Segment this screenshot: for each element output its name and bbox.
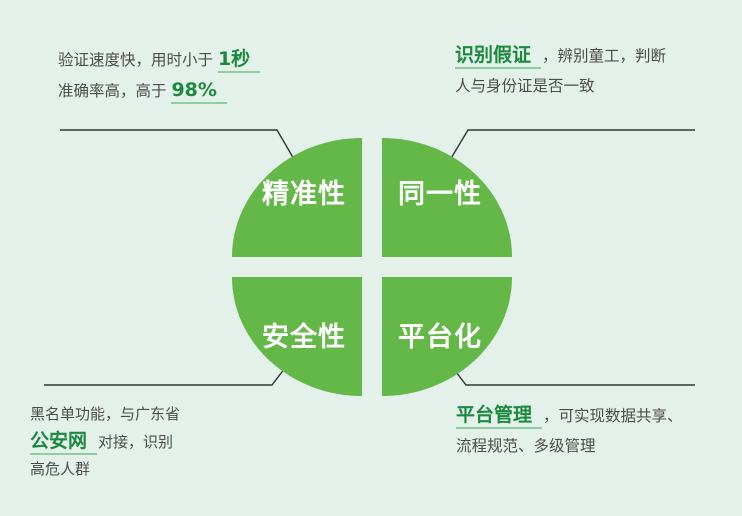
callout-accuracy-highlight-rate: 98% bbox=[171, 79, 226, 104]
callout-identity-line-1: 识别假证，辨别童工，判断 bbox=[455, 40, 666, 71]
quadrant-top-right[interactable]: 同一性 bbox=[382, 138, 512, 257]
callout-security: 黑名单功能，与广东省 公安网对接，识别 高危人群 bbox=[30, 401, 180, 483]
callout-identity-line-2: 人与身份证是否一致 bbox=[455, 71, 666, 101]
callout-security-line-2: 公安网对接，识别 bbox=[30, 428, 180, 456]
callout-accuracy: 验证速度快，用时小于 1秒 准确率高，高于 98% bbox=[58, 44, 261, 106]
callout-platform-highlight: 平台管理 bbox=[456, 404, 542, 429]
callout-accuracy-line1-prefix: 验证速度快，用时小于 bbox=[58, 51, 218, 69]
callout-accuracy-line2-prefix: 准确率高，高于 bbox=[58, 82, 171, 100]
quadrant-label-bottom-right: 平台化 bbox=[398, 324, 482, 351]
quadrant-label-top-right: 同一性 bbox=[398, 181, 482, 208]
callout-platform-line1-suffix: ，可实现数据共享、 bbox=[543, 407, 683, 425]
quadrant-label-bottom-left: 安全性 bbox=[262, 324, 346, 351]
callout-platform-line-2: 流程规范、多级管理 bbox=[456, 431, 683, 461]
callout-platform: 平台管理，可实现数据共享、 流程规范、多级管理 bbox=[456, 400, 683, 461]
callout-accuracy-line-1: 验证速度快，用时小于 1秒 bbox=[58, 44, 261, 75]
callout-accuracy-line-2: 准确率高，高于 98% bbox=[58, 75, 261, 106]
quadrant-bottom-right[interactable]: 平台化 bbox=[382, 277, 512, 396]
callout-security-line-1: 黑名单功能，与广东省 bbox=[30, 401, 180, 428]
callout-identity-line1-suffix: ，辨别童工，判断 bbox=[542, 47, 666, 65]
quadrant-label-top-left: 精准性 bbox=[262, 181, 346, 208]
quadrant-top-left[interactable]: 精准性 bbox=[232, 138, 362, 257]
callout-accuracy-highlight-duration: 1秒 bbox=[218, 48, 260, 73]
infographic-canvas: 精准性 同一性 安全性 平台化 验证速度快，用时小于 1秒 准确率高，高于 98… bbox=[0, 0, 742, 516]
quadrant-bottom-left[interactable]: 安全性 bbox=[232, 277, 362, 396]
callout-identity: 识别假证，辨别童工，判断 人与身份证是否一致 bbox=[455, 40, 666, 101]
callout-platform-line-1: 平台管理，可实现数据共享、 bbox=[456, 400, 683, 431]
callout-security-line-3: 高危人群 bbox=[30, 456, 180, 483]
quadrant-circle: 精准性 同一性 安全性 平台化 bbox=[232, 138, 512, 396]
callout-identity-highlight: 识别假证 bbox=[455, 44, 541, 69]
callout-security-line2-suffix: 对接，识别 bbox=[98, 433, 173, 451]
callout-security-highlight: 公安网 bbox=[30, 430, 97, 455]
